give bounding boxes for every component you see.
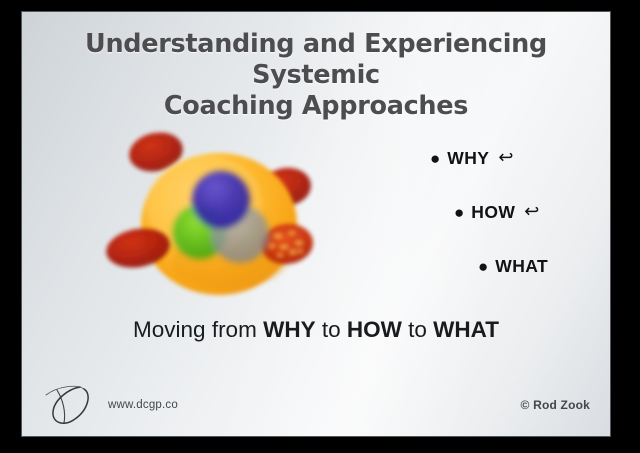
title-line-1: Understanding and Experiencing Systemic [85,29,547,90]
website-url[interactable]: www.dcgp.co [108,399,178,411]
summary-line: Moving from WHY to HOW to WHAT [22,317,610,343]
summary-mid-2: to [402,317,433,342]
bullet-dot-icon: ● [454,204,464,221]
presentation-slide: Understanding and Experiencing Systemic … [22,12,610,436]
title-line-2: Coaching Approaches [30,91,602,122]
orange-disc-illustration [100,120,340,305]
bullet-dot-icon: ● [478,258,488,275]
summary-word-what: WHAT [433,317,499,342]
copyright-notice: © Rod Zook [521,398,591,412]
blue-circle [192,171,250,229]
slide-footer: www.dcgp.co © Rod Zook [22,380,610,436]
bullet-label: WHAT [495,256,548,277]
dcgp-swirl-logo-icon [44,382,104,428]
summary-word-why: WHY [263,317,316,342]
bullet-dot-icon: ● [430,150,440,167]
summary-prefix: Moving from [133,317,263,342]
return-arrow-icon: ↩ [498,148,513,166]
screen-frame: Understanding and Experiencing Systemic … [0,0,640,453]
summary-mid-1: to [316,317,347,342]
summary-word-how: HOW [347,317,402,342]
list-item-how[interactable]: ● HOW ↩ [402,200,610,224]
bullet-list: ● WHY ↩ ● HOW ↩ ● WHAT [402,146,610,278]
return-arrow-icon: ↩ [524,202,539,220]
list-item-what[interactable]: ● WHAT [402,254,610,278]
list-item-why[interactable]: ● WHY ↩ [402,146,610,170]
bullet-label: WHY [447,148,489,169]
page-title: Understanding and Experiencing Systemic … [30,29,602,122]
bullet-label: HOW [471,202,515,223]
